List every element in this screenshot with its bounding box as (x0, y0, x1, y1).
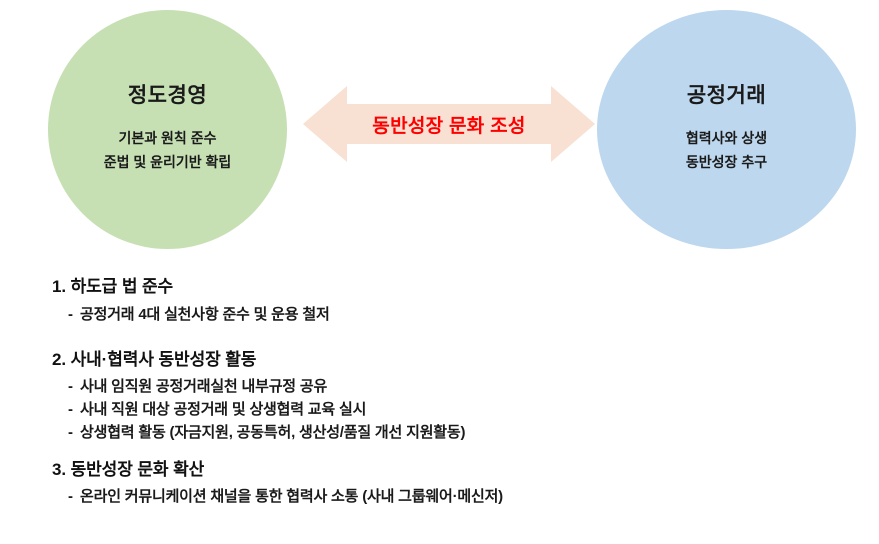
list-section-2: 2. 사내·협력사 동반성장 활동 -사내 임직원 공정거래실천 내부규정 공유… (0, 349, 879, 445)
right-circle-subtitle-line-2: 동반성장 추구 (686, 150, 767, 174)
section-heading: 3. 동반성장 문화 확산 (0, 459, 879, 481)
double-arrow-icon (303, 78, 595, 170)
circle-gongjeong-georae: 공정거래 협력사와 상생 동반성장 추구 (597, 10, 856, 249)
bullet-dash-icon: - (68, 486, 80, 509)
right-circle-subtitle-line-1: 협력사와 상생 (686, 126, 767, 150)
two-circle-diagram: 정도경영 기본과 원칙 준수 준법 및 윤리기반 확립 동반성장 문화 조성 공… (0, 0, 879, 262)
activities-list: 1. 하도급 법 준수 -공정거래 4대 실천사항 준수 및 운용 철저 2. … (0, 276, 879, 509)
section-bullets: -사내 임직원 공정거래실천 내부규정 공유 -사내 직원 대상 공정거래 및 … (0, 376, 879, 444)
list-section-1: 1. 하도급 법 준수 -공정거래 4대 실천사항 준수 및 운용 철저 (0, 276, 879, 327)
section-heading: 2. 사내·협력사 동반성장 활동 (0, 349, 879, 371)
section-heading: 1. 하도급 법 준수 (0, 276, 879, 298)
list-section-3: 3. 동반성장 문화 확산 -온라인 커뮤니케이션 채널을 통한 협력사 소통 … (0, 459, 879, 510)
bullet-dash-icon: - (68, 376, 80, 399)
list-item-text: 사내 직원 대상 공정거래 및 상생협력 교육 실시 (80, 401, 366, 418)
list-item-text: 공정거래 4대 실천사항 준수 및 운용 철저 (80, 306, 330, 323)
list-item: -공정거래 4대 실천사항 준수 및 운용 철저 (0, 304, 879, 327)
right-circle-subtitle: 협력사와 상생 동반성장 추구 (686, 126, 767, 174)
double-arrow-shape: 동반성장 문화 조성 (303, 78, 595, 170)
list-item-text: 온라인 커뮤니케이션 채널을 통한 협력사 소통 (사내 그룹웨어·메신저) (80, 488, 503, 505)
slide-canvas: 정도경영 기본과 원칙 준수 준법 및 윤리기반 확립 동반성장 문화 조성 공… (0, 0, 879, 544)
list-item: -상생협력 활동 (자금지원, 공동특허, 생산성/품질 개선 지원활동) (0, 422, 879, 445)
list-item: -사내 직원 대상 공정거래 및 상생협력 교육 실시 (0, 399, 879, 422)
left-circle-subtitle-line-1: 기본과 원칙 준수 (104, 126, 232, 150)
left-circle-subtitle: 기본과 원칙 준수 준법 및 윤리기반 확립 (104, 126, 232, 174)
list-item: -사내 임직원 공정거래실천 내부규정 공유 (0, 376, 879, 399)
left-circle-title: 정도경영 (128, 85, 207, 106)
bullet-dash-icon: - (68, 399, 80, 422)
section-bullets: -온라인 커뮤니케이션 채널을 통한 협력사 소통 (사내 그룹웨어·메신저) (0, 486, 879, 509)
circle-jeongdo-gyeongyeong: 정도경영 기본과 원칙 준수 준법 및 윤리기반 확립 (48, 10, 287, 249)
list-item-text: 사내 임직원 공정거래실천 내부규정 공유 (80, 378, 327, 395)
list-item-text: 상생협력 활동 (자금지원, 공동특허, 생산성/품질 개선 지원활동) (80, 424, 465, 441)
bullet-dash-icon: - (68, 422, 80, 445)
section-bullets: -공정거래 4대 실천사항 준수 및 운용 철저 (0, 304, 879, 327)
list-item: -온라인 커뮤니케이션 채널을 통한 협력사 소통 (사내 그룹웨어·메신저) (0, 486, 879, 509)
bullet-dash-icon: - (68, 304, 80, 327)
section-spacer (0, 327, 879, 349)
section-spacer (0, 445, 879, 459)
left-circle-subtitle-line-2: 준법 및 윤리기반 확립 (104, 150, 232, 174)
right-circle-title: 공정거래 (687, 85, 766, 106)
